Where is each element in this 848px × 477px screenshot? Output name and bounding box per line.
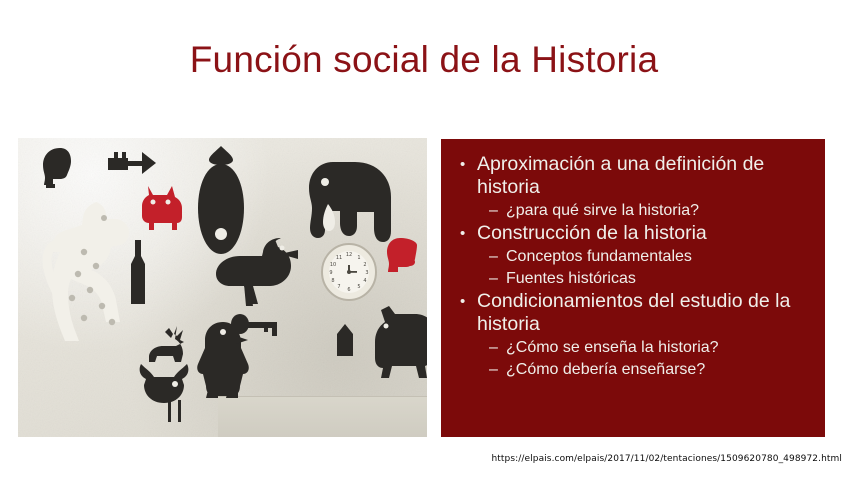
bullet-marker-dot: • bbox=[460, 222, 477, 245]
svg-text:5: 5 bbox=[357, 284, 360, 290]
bullet-marker-dash: – bbox=[489, 359, 506, 380]
bullet-text: Condicionamientos del estudio de la hist… bbox=[477, 290, 815, 336]
svg-text:4: 4 bbox=[363, 278, 366, 284]
white-leopard-icon bbox=[38, 200, 142, 360]
elephant-icon bbox=[303, 156, 413, 248]
horse-icon bbox=[373, 306, 427, 378]
source-url-caption: https://elpais.com/elpais/2017/11/02/ten… bbox=[491, 453, 842, 465]
clock-face-icon: 1212 345 678 91011 bbox=[321, 243, 377, 301]
bullet-text: Construcción de la historia bbox=[477, 222, 815, 245]
bullet-marker-dash: – bbox=[489, 200, 506, 221]
svg-text:7: 7 bbox=[337, 284, 340, 290]
slide-photo: 1212 345 678 91011 bbox=[18, 138, 427, 437]
bullet-panel: • Aproximación a una definición de histo… bbox=[441, 139, 825, 437]
trumpet-icon bbox=[106, 150, 158, 176]
head-profile-icon bbox=[40, 146, 76, 188]
bullet-item-level2: – ¿para qué sirve la historia? bbox=[451, 200, 815, 221]
svg-text:8: 8 bbox=[331, 278, 334, 284]
red-dog-icon bbox=[138, 184, 186, 232]
house-icon bbox=[336, 324, 354, 356]
svg-text:1: 1 bbox=[357, 255, 360, 261]
bullet-item-level1: • Condicionamientos del estudio de la hi… bbox=[451, 290, 815, 336]
page-title: Función social de la Historia bbox=[0, 38, 848, 82]
svg-text:11: 11 bbox=[336, 255, 342, 261]
bullet-text: ¿Cómo debería enseñarse? bbox=[506, 359, 815, 380]
bullet-item-level2: – Conceptos fundamentales bbox=[451, 246, 815, 267]
svg-text:6: 6 bbox=[347, 287, 350, 293]
duck-icon bbox=[214, 236, 302, 308]
reindeer-icon bbox=[147, 324, 189, 364]
bullet-text: Fuentes históricas bbox=[506, 268, 815, 289]
bullet-text: ¿para qué sirve la historia? bbox=[506, 200, 815, 221]
bullet-marker-dash: – bbox=[489, 337, 506, 358]
penguin-icon bbox=[196, 320, 250, 398]
svg-text:2: 2 bbox=[363, 262, 366, 268]
bullet-marker-dot: • bbox=[460, 153, 477, 176]
svg-text:3: 3 bbox=[365, 270, 368, 276]
bullet-item-level2: – ¿Cómo debería enseñarse? bbox=[451, 359, 815, 380]
red-head-icon bbox=[386, 238, 418, 278]
bullet-item-level2: – Fuentes históricas bbox=[451, 268, 815, 289]
svg-text:10: 10 bbox=[330, 262, 336, 268]
bullet-marker-dash: – bbox=[489, 268, 506, 289]
svg-text:12: 12 bbox=[346, 252, 352, 258]
bottle-icon bbox=[128, 240, 148, 304]
photo-shelf-edge bbox=[218, 396, 427, 437]
bullet-item-level1: • Aproximación a una definición de histo… bbox=[451, 153, 815, 199]
bird-legs-icon bbox=[164, 400, 186, 426]
bullet-text: Aproximación a una definición de histori… bbox=[477, 153, 815, 199]
bullet-marker-dash: – bbox=[489, 246, 506, 267]
bullet-item-level2: – ¿Cómo se enseña la historia? bbox=[451, 337, 815, 358]
bullet-marker-dot: • bbox=[460, 290, 477, 313]
svg-text:9: 9 bbox=[329, 270, 332, 276]
bullet-item-level1: • Construcción de la historia bbox=[451, 222, 815, 245]
bullet-text: ¿Cómo se enseña la historia? bbox=[506, 337, 815, 358]
bullet-text: Conceptos fundamentales bbox=[506, 246, 815, 267]
